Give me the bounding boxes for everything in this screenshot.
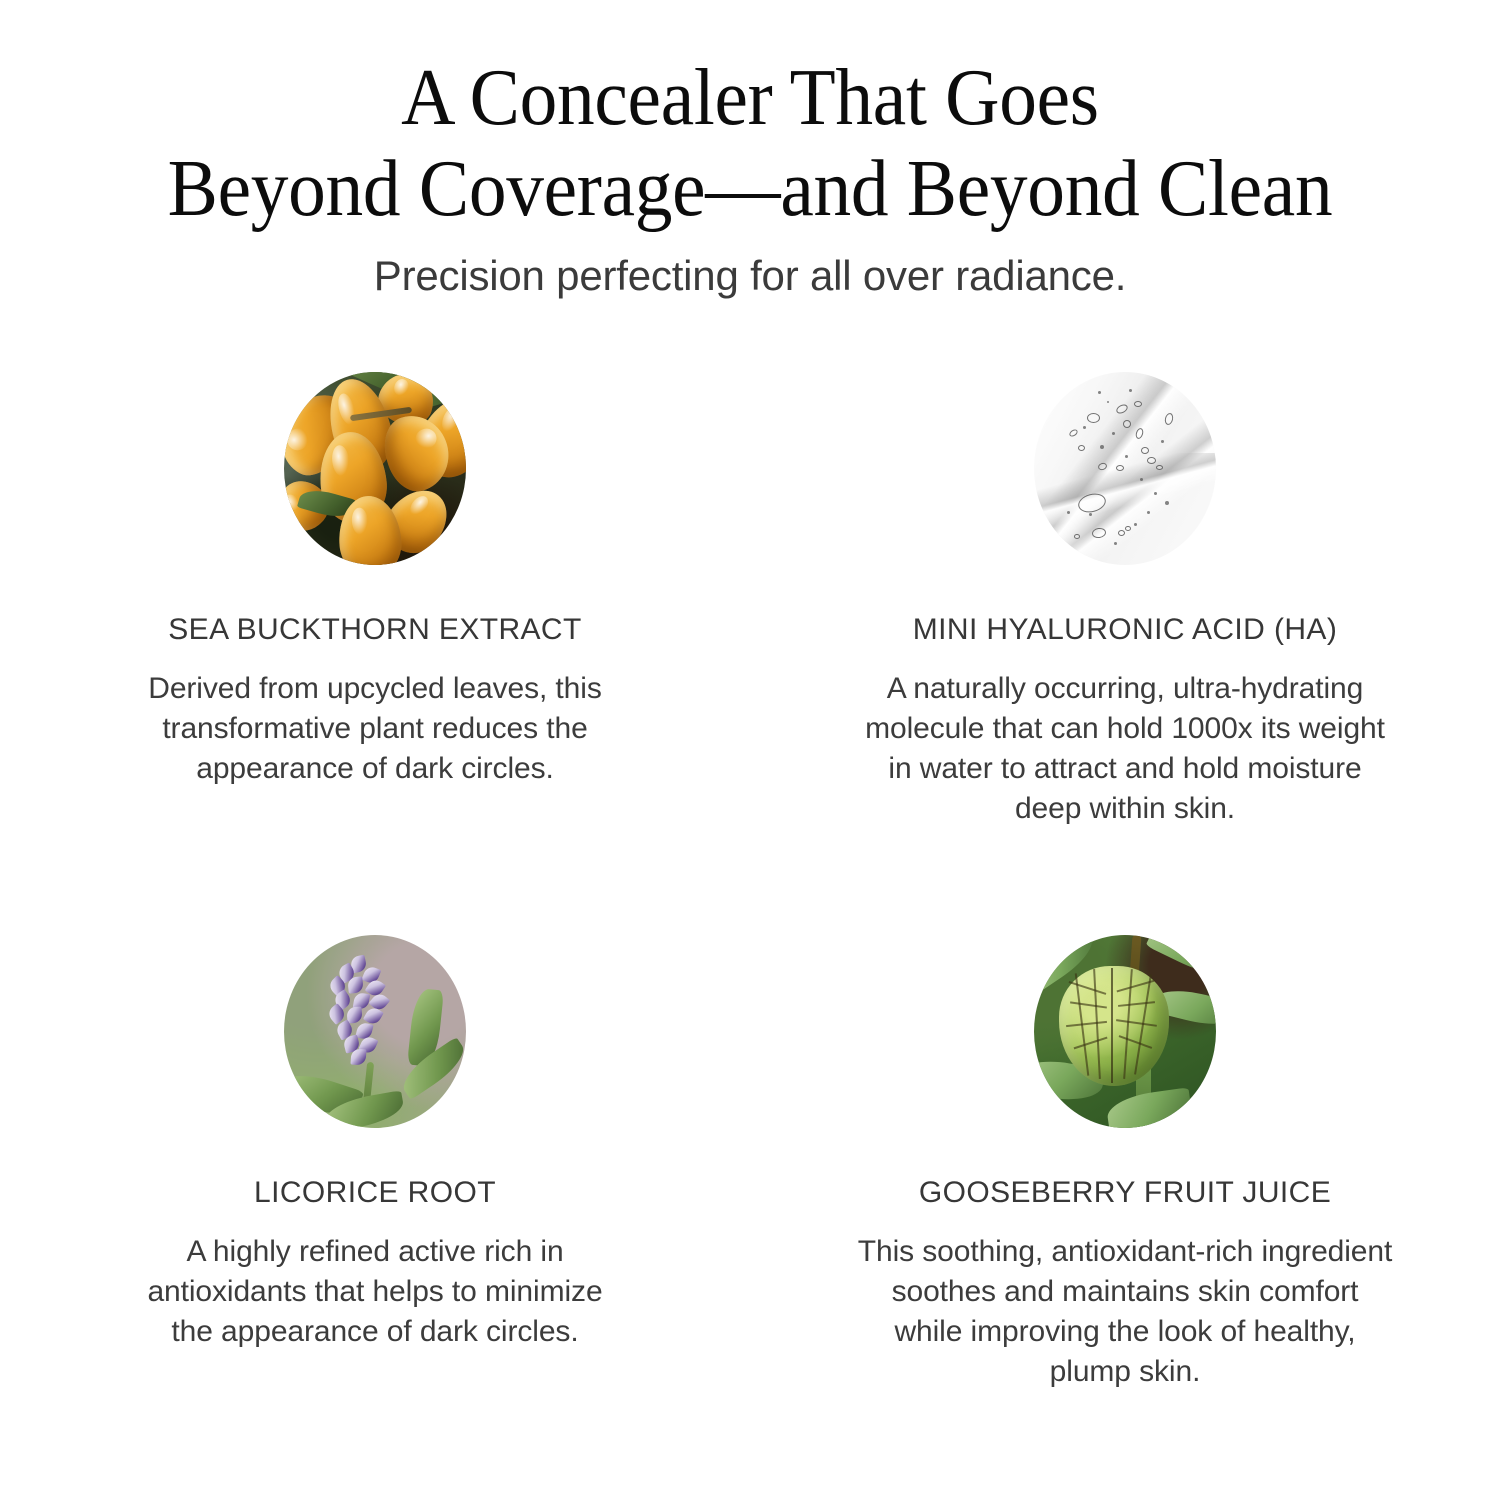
vein-shape <box>1118 1001 1155 1006</box>
licorice-root-thumb-wrap <box>284 935 466 1128</box>
gel-fold-shape <box>1034 453 1216 530</box>
speck-shape <box>1125 455 1128 458</box>
ingredient-description: A naturally occurring, ultra-hydrating m… <box>855 669 1395 829</box>
ingredient-title: LICORICE ROOT <box>254 1176 496 1210</box>
hyaluronic-acid-thumb-wrap <box>1034 372 1216 565</box>
speck-shape <box>1089 513 1092 516</box>
vein-shape <box>1069 981 1107 995</box>
page-title: A Concealer That Goes Beyond Coverage—an… <box>53 52 1448 234</box>
page-subtitle: Precision perfecting for all over radian… <box>0 250 1500 302</box>
hyaluronic-acid-gel-icon <box>1034 372 1216 565</box>
vein-shape <box>1066 1021 1107 1027</box>
ingredient-card-hyaluronic-acid: MINI HYALURONIC ACID (HA) A naturally oc… <box>750 372 1500 829</box>
sea-buckthorn-thumb-wrap <box>284 372 466 565</box>
ingredient-card-sea-buckthorn: SEA BUCKTHORN EXTRACT Derived from upcyc… <box>0 372 750 829</box>
speck-shape <box>1107 401 1109 403</box>
flower-spike-shape <box>328 958 397 1078</box>
ingredient-grid: SEA BUCKTHORN EXTRACT Derived from upcyc… <box>0 372 1500 1392</box>
husk-ridge-shape <box>1111 968 1114 1083</box>
vein-shape <box>1116 1019 1157 1026</box>
ingredient-card-gooseberry: GOOSEBERRY FRUIT JUICE This soothing, an… <box>750 935 1500 1392</box>
ingredient-card-licorice-root: LICORICE ROOT A highly refined active ri… <box>0 935 750 1392</box>
ingredient-description: This soothing, antioxidant-rich ingredie… <box>855 1232 1395 1392</box>
ingredient-description: Derived from upcycled leaves, this trans… <box>129 669 621 789</box>
bubble-shape <box>1087 413 1100 423</box>
speck-shape <box>1140 478 1143 481</box>
sea-buckthorn-berries-icon <box>284 372 466 565</box>
ingredient-title: SEA BUCKTHORN EXTRACT <box>168 613 581 647</box>
speck-shape <box>1067 511 1070 514</box>
bubble-shape <box>1116 465 1124 471</box>
bubble-shape <box>1118 530 1125 536</box>
husk-shape <box>1059 966 1168 1086</box>
vein-shape <box>1093 969 1100 1079</box>
speck-shape <box>1134 523 1137 526</box>
floret-shape <box>348 977 365 994</box>
bubble-shape <box>1147 457 1156 464</box>
ingredient-description: A highly refined active rich in antioxid… <box>129 1232 621 1352</box>
gooseberry-fruit-husk-icon <box>1034 935 1216 1128</box>
vein-shape <box>1070 1002 1107 1009</box>
vein-shape <box>1073 1037 1107 1049</box>
floret-shape <box>347 1007 363 1024</box>
speck-shape <box>1147 511 1150 514</box>
leaf-shape <box>1105 1088 1192 1128</box>
bubble-shape <box>1134 401 1142 407</box>
ingredient-benefits-panel: A Concealer That Goes Beyond Coverage—an… <box>0 0 1500 1500</box>
ingredient-title: MINI HYALURONIC ACID (HA) <box>913 613 1337 647</box>
speck-shape <box>1114 542 1117 545</box>
bubble-shape <box>1156 465 1163 470</box>
gooseberry-thumb-wrap <box>1034 935 1216 1128</box>
speck-shape <box>1154 492 1157 495</box>
vein-shape <box>1119 1035 1152 1048</box>
ingredient-title: GOOSEBERRY FRUIT JUICE <box>919 1176 1331 1210</box>
licorice-root-flower-icon <box>284 935 466 1128</box>
floret-shape <box>351 1049 367 1066</box>
speck-shape <box>1100 445 1104 449</box>
leaf-shape <box>1145 935 1216 984</box>
